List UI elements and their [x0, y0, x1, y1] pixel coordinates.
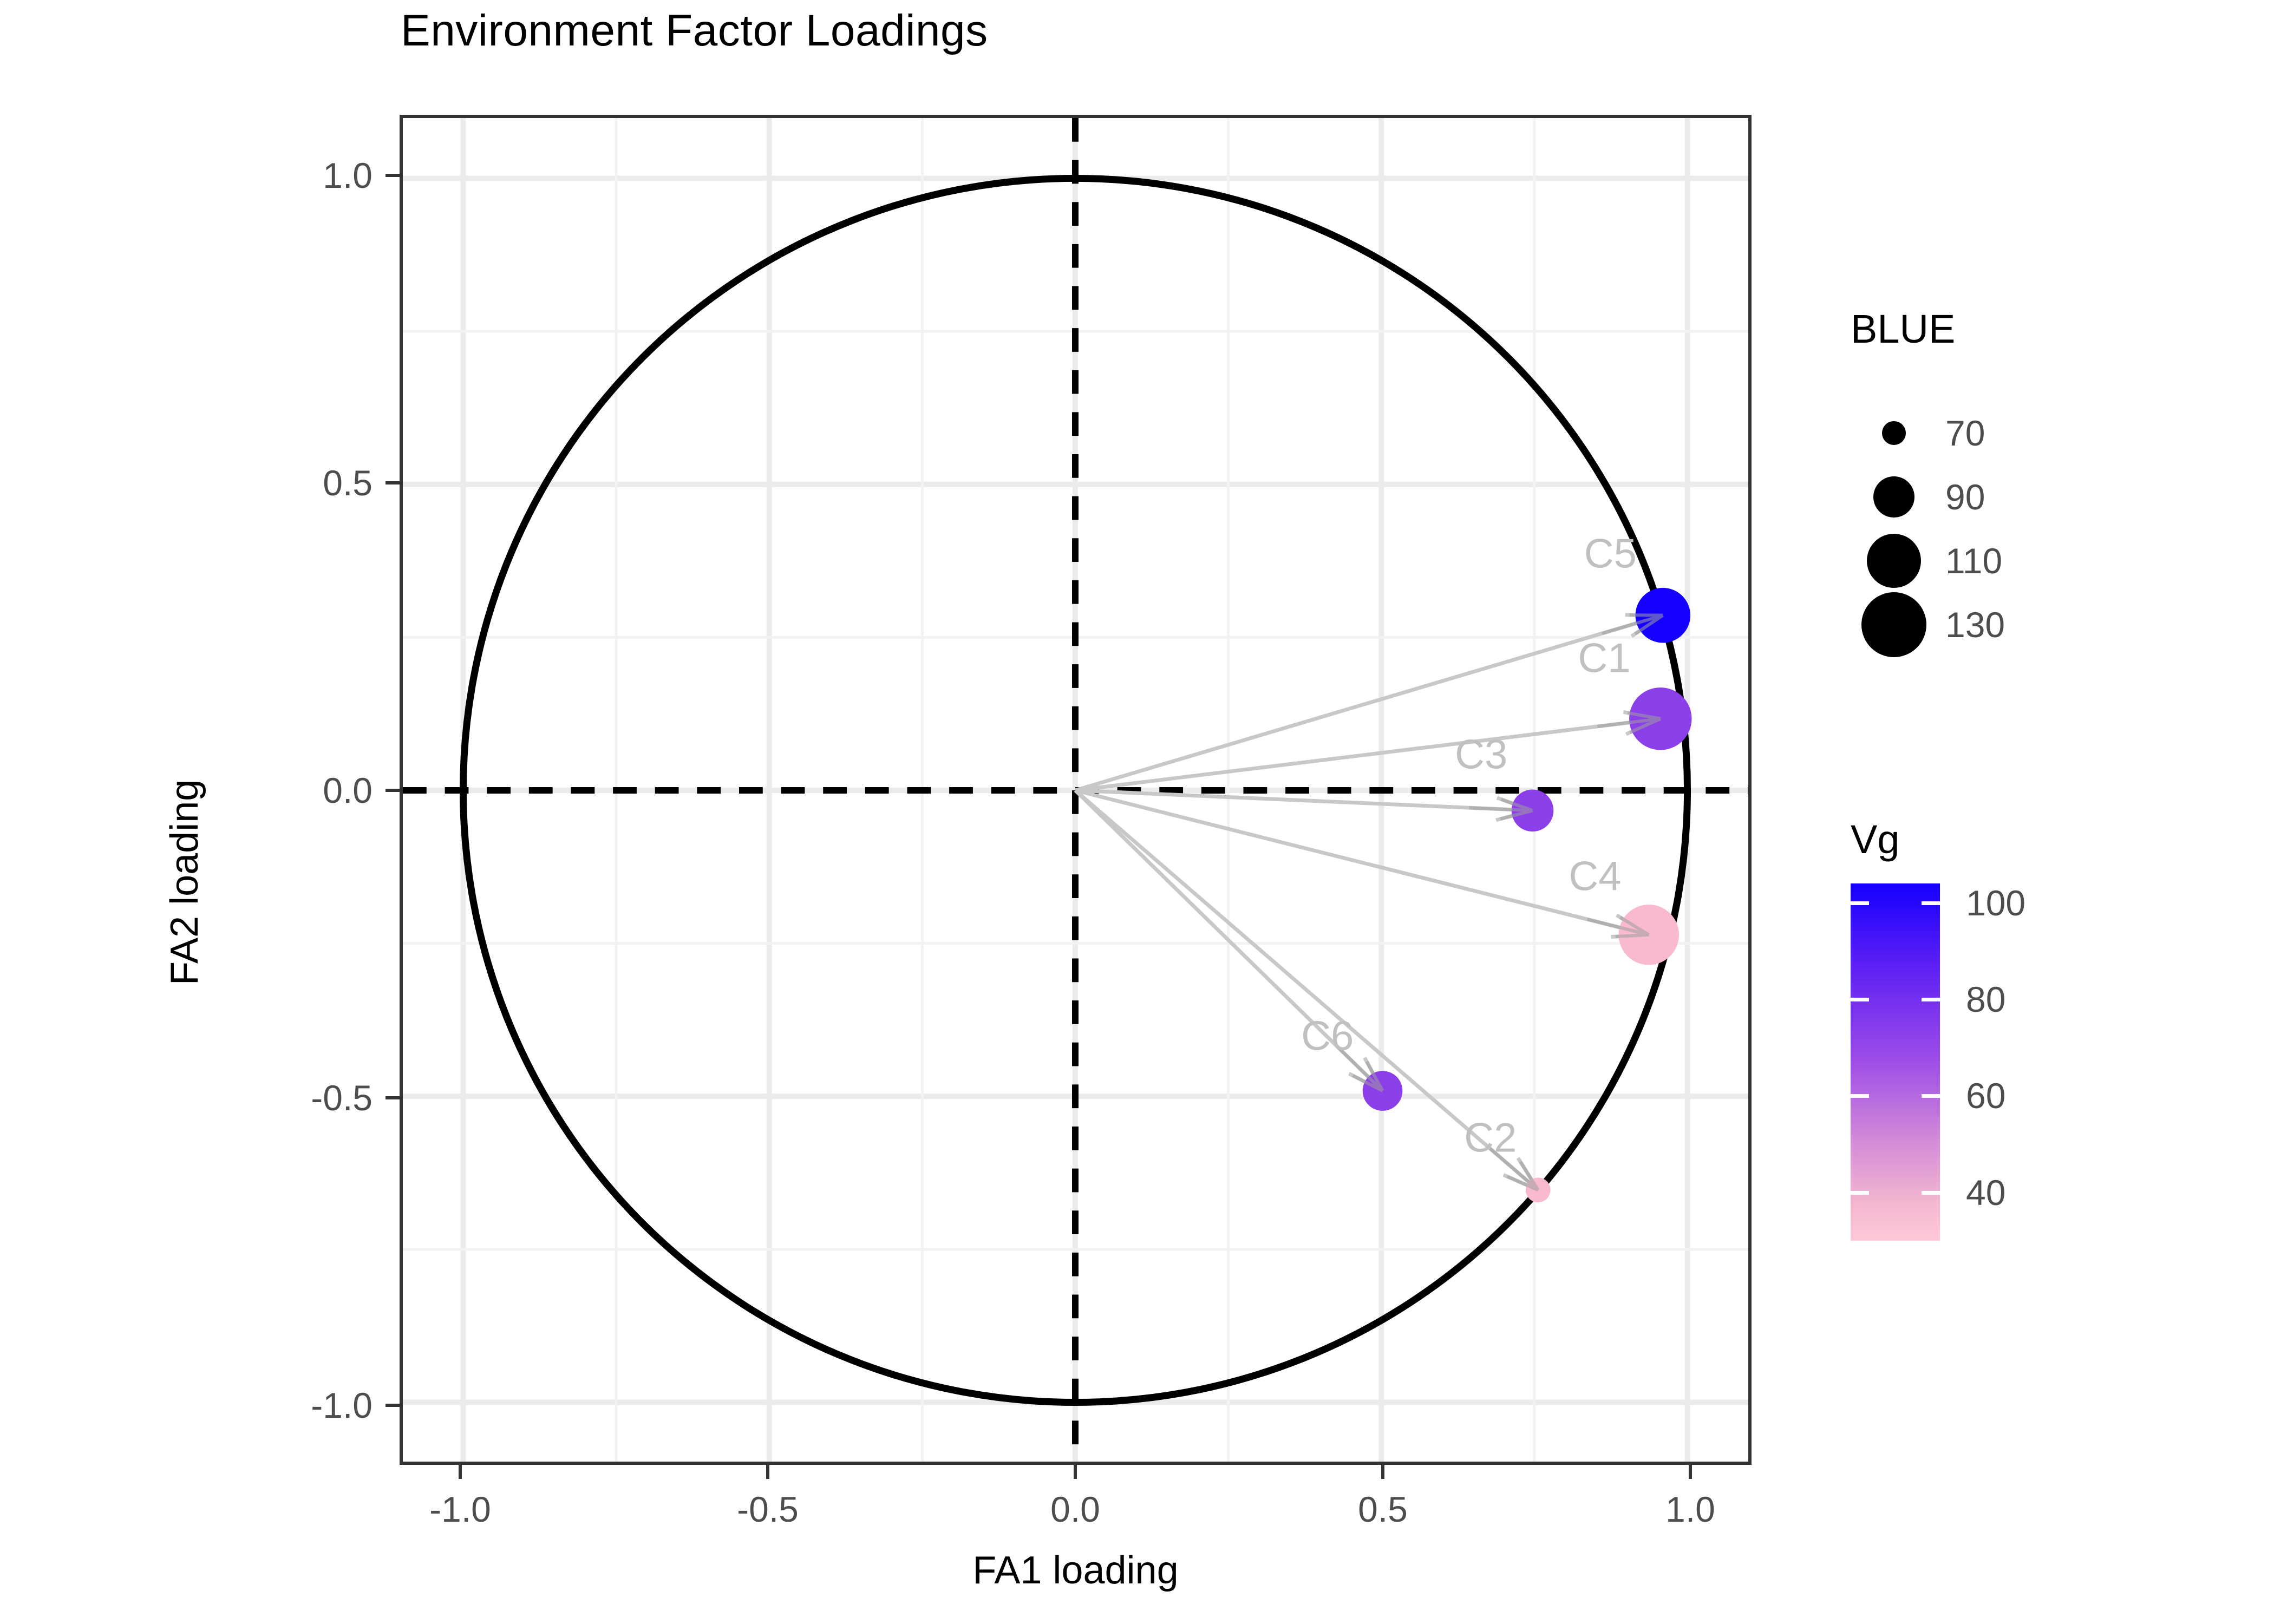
x-tickmark: [459, 1465, 462, 1479]
y-tickmark: [385, 481, 400, 484]
y-tick-label: 0.5: [323, 462, 373, 503]
colorbar-tick-label: 100: [1966, 882, 2025, 924]
legend-title-vg: Vg: [1851, 816, 1900, 862]
y-axis-title: FA2 loading: [162, 780, 207, 985]
page-title: Environment Factor Loadings: [401, 5, 988, 56]
legend-size-label: 110: [1945, 540, 2002, 581]
colorbar-tick: [1922, 1094, 1940, 1098]
point-label-c2: C2: [1464, 1114, 1517, 1161]
y-tick-label: 1.0: [323, 155, 373, 196]
legend-size-label: 130: [1945, 604, 2005, 645]
point-label-c6: C6: [1301, 1013, 1354, 1060]
legend-size-label: 90: [1945, 476, 1985, 518]
x-tickmark: [1381, 1465, 1384, 1479]
legend-size-dot: [1867, 534, 1921, 588]
legend-size-dot: [1882, 421, 1906, 445]
plot-panel: [400, 115, 1752, 1465]
colorbar-tick: [1851, 1094, 1869, 1098]
x-tick-label: -1.0: [429, 1489, 491, 1530]
chart-root: Environment Factor Loadings C1C2C3C4C5C6…: [0, 0, 2274, 1624]
y-tick-label: -1.0: [311, 1385, 373, 1426]
x-tick-label: 1.0: [1665, 1489, 1715, 1530]
colorbar-tick: [1851, 901, 1869, 905]
legend-size-label: 70: [1945, 412, 1985, 454]
colorbar-tick: [1851, 998, 1869, 1001]
data-points: [1337, 588, 1692, 1202]
colorbar-tick-label: 80: [1966, 979, 2005, 1020]
y-tick-label: 0.0: [323, 770, 373, 811]
legend-size-dot: [1861, 592, 1926, 657]
legend-size-dot: [1873, 476, 1914, 518]
y-tickmark: [385, 1096, 400, 1099]
colorbar-tick: [1922, 998, 1940, 1001]
legend-title-blue: BLUE: [1851, 306, 1955, 352]
y-tick-label: -0.5: [311, 1077, 373, 1118]
y-tickmark: [385, 1404, 400, 1407]
point-label-c1: C1: [1578, 634, 1630, 682]
x-tickmark: [1074, 1465, 1077, 1479]
x-tickmark: [766, 1465, 769, 1479]
point-label-c5: C5: [1584, 530, 1637, 577]
x-axis-title: FA1 loading: [400, 1548, 1752, 1593]
point-label-c4: C4: [1569, 853, 1621, 900]
y-tickmark: [385, 174, 400, 177]
legend-vg-colorbar: [1851, 883, 1940, 1241]
colorbar-tick-label: 60: [1966, 1075, 2005, 1116]
colorbar-tick: [1922, 1191, 1940, 1195]
colorbar-tick: [1922, 901, 1940, 905]
y-tickmark: [385, 789, 400, 792]
point-label-c3: C3: [1455, 731, 1507, 778]
colorbar-tick-label: 40: [1966, 1172, 2005, 1213]
plot-canvas: [403, 118, 1748, 1462]
x-tick-label: -0.5: [737, 1489, 799, 1530]
x-tick-label: 0.5: [1358, 1489, 1408, 1530]
colorbar-tick: [1851, 1191, 1869, 1195]
x-tickmark: [1689, 1465, 1692, 1479]
x-tick-label: 0.0: [1050, 1489, 1100, 1530]
